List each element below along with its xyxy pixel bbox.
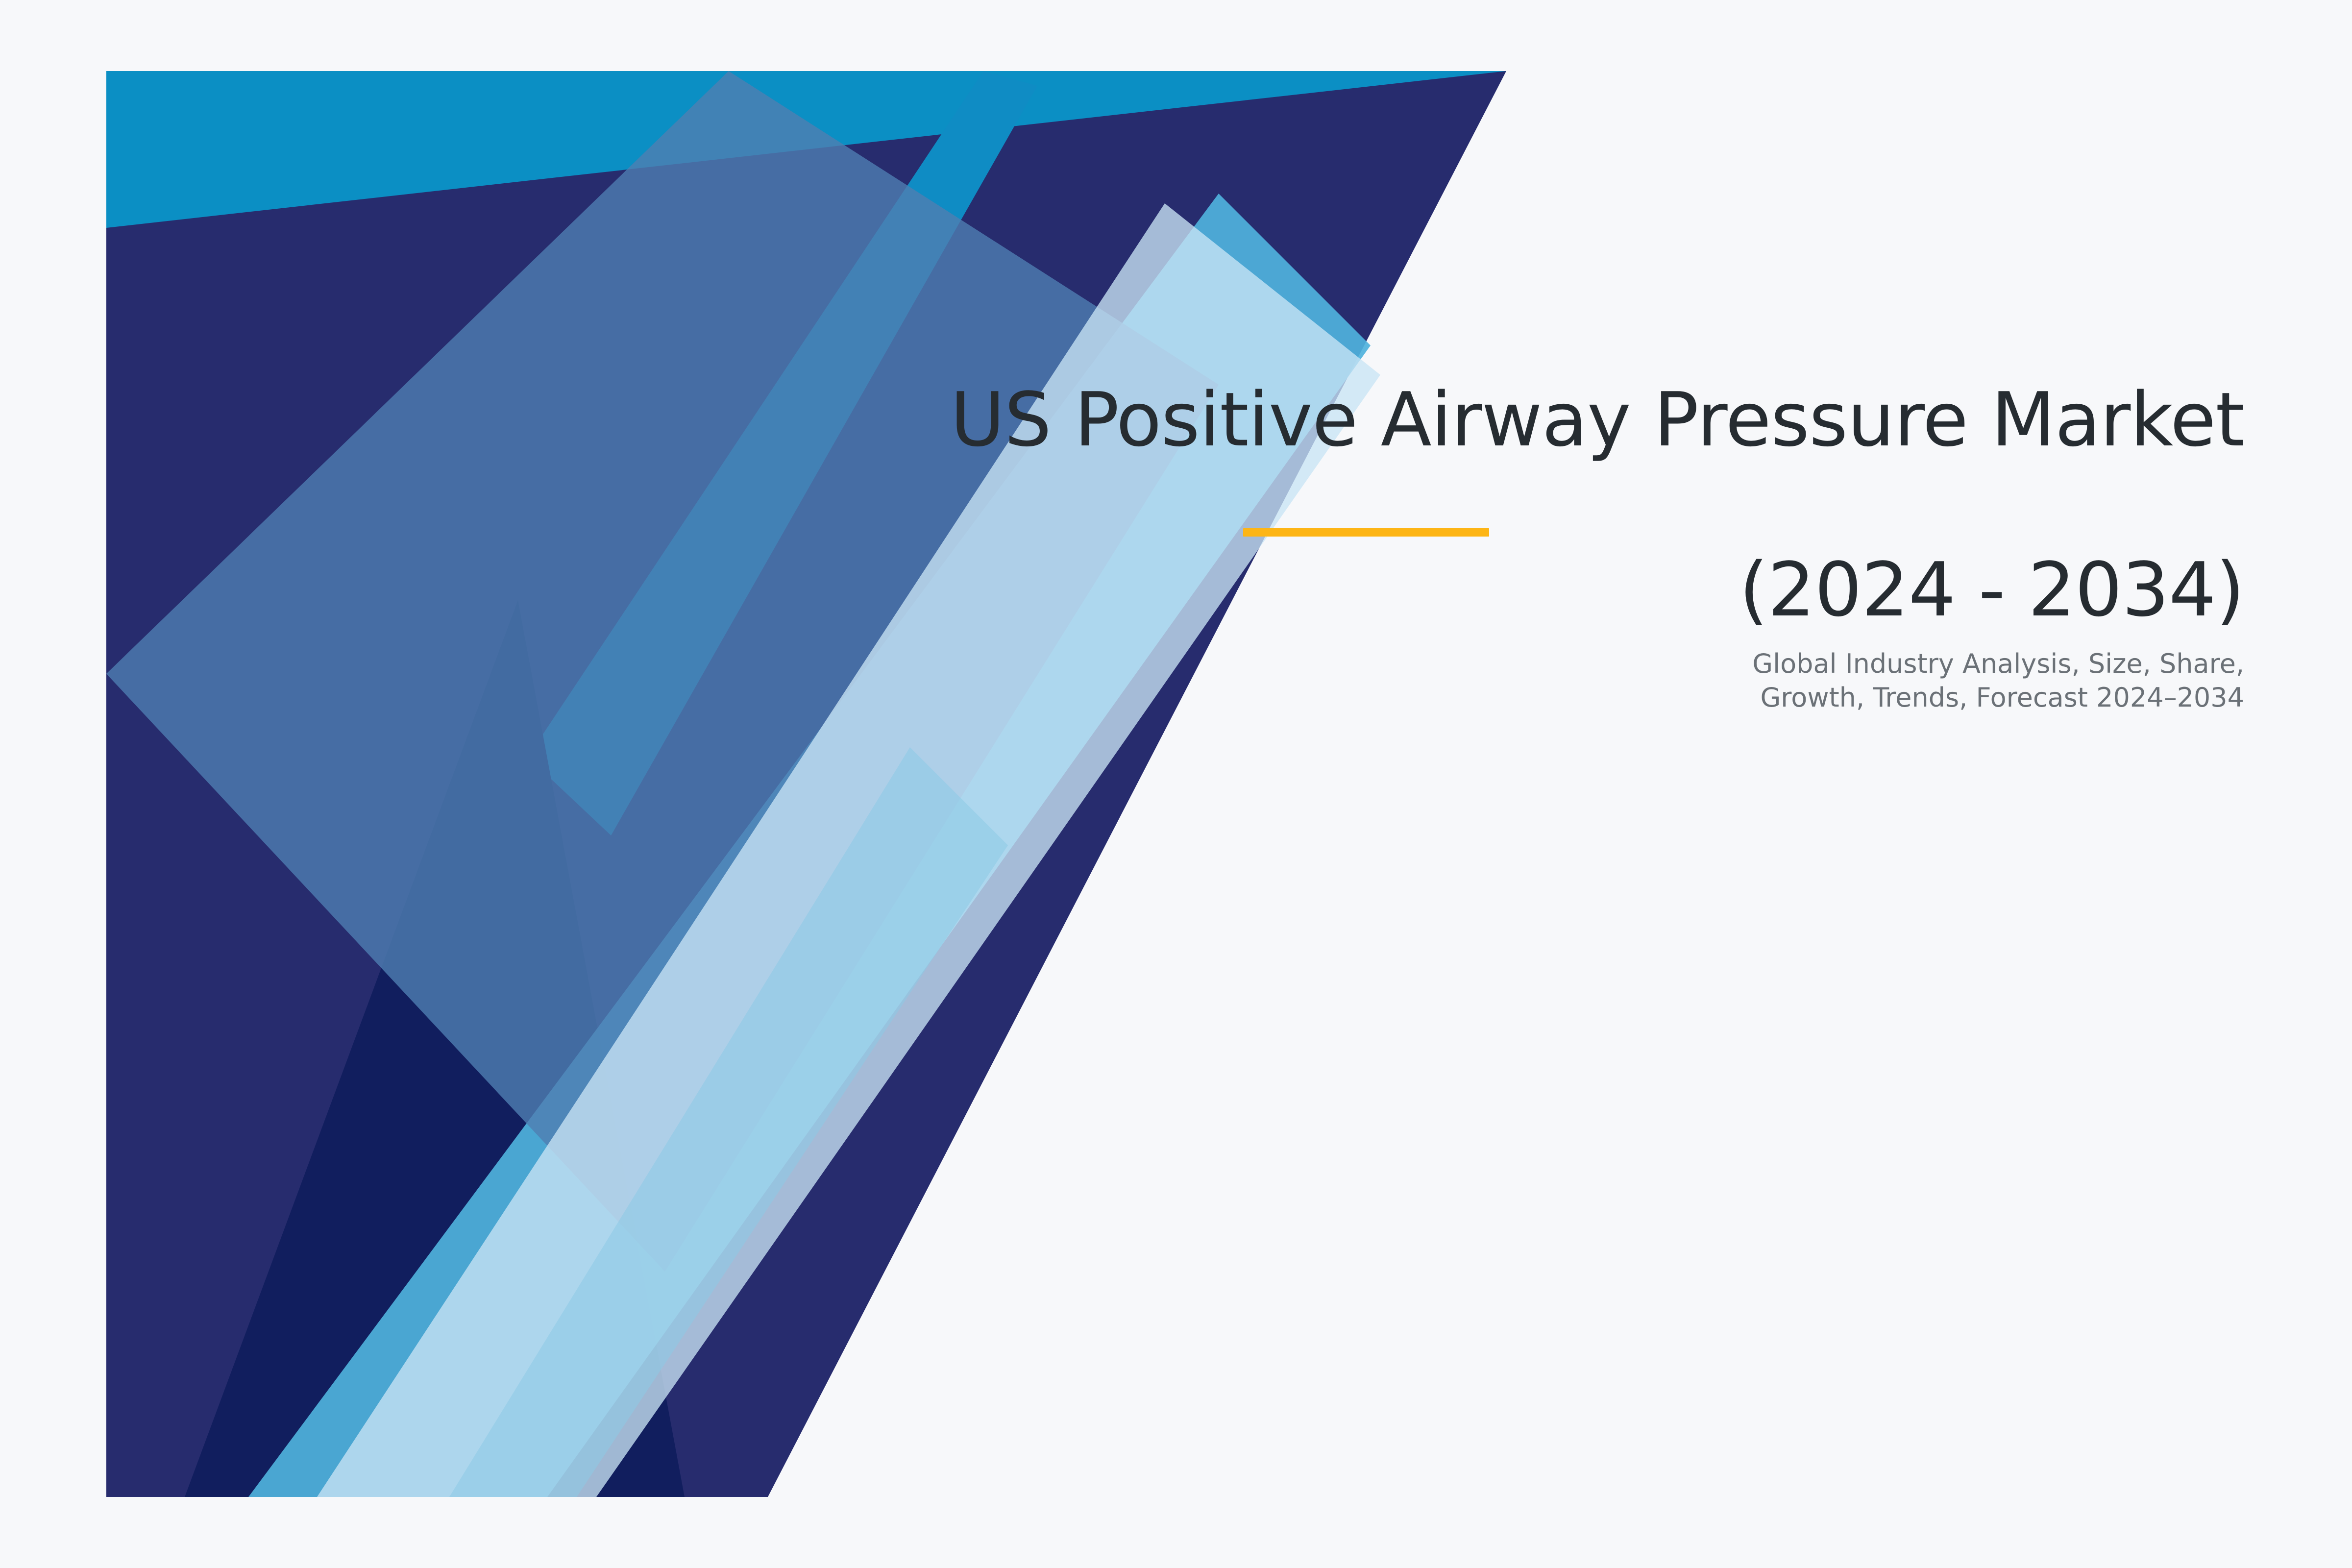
page-title-line-1: US Positive Airway Pressure Market <box>759 377 2244 462</box>
page-title: US Positive Airway Pressure Market(2024 … <box>759 377 2244 632</box>
report-cover-page: US Positive Airway Pressure Market(2024 … <box>0 0 2352 1568</box>
page-subtitle-line-1: Global Industry Analysis, Size, Share, <box>1752 648 2244 679</box>
title-accent-underline <box>1243 528 1489 537</box>
title-block: US Positive Airway Pressure Market(2024 … <box>759 377 2244 632</box>
page-title-line-2: (2024 - 2034) <box>759 547 2244 632</box>
page-subtitle-line-2: Growth, Trends, Forecast 2024–2034 <box>1760 682 2244 713</box>
cover-graphic-svg <box>106 71 1506 1497</box>
page-subtitle: Global Industry Analysis, Size, Share,Gr… <box>1607 647 2244 714</box>
geometric-cover-graphic <box>106 71 1506 1497</box>
